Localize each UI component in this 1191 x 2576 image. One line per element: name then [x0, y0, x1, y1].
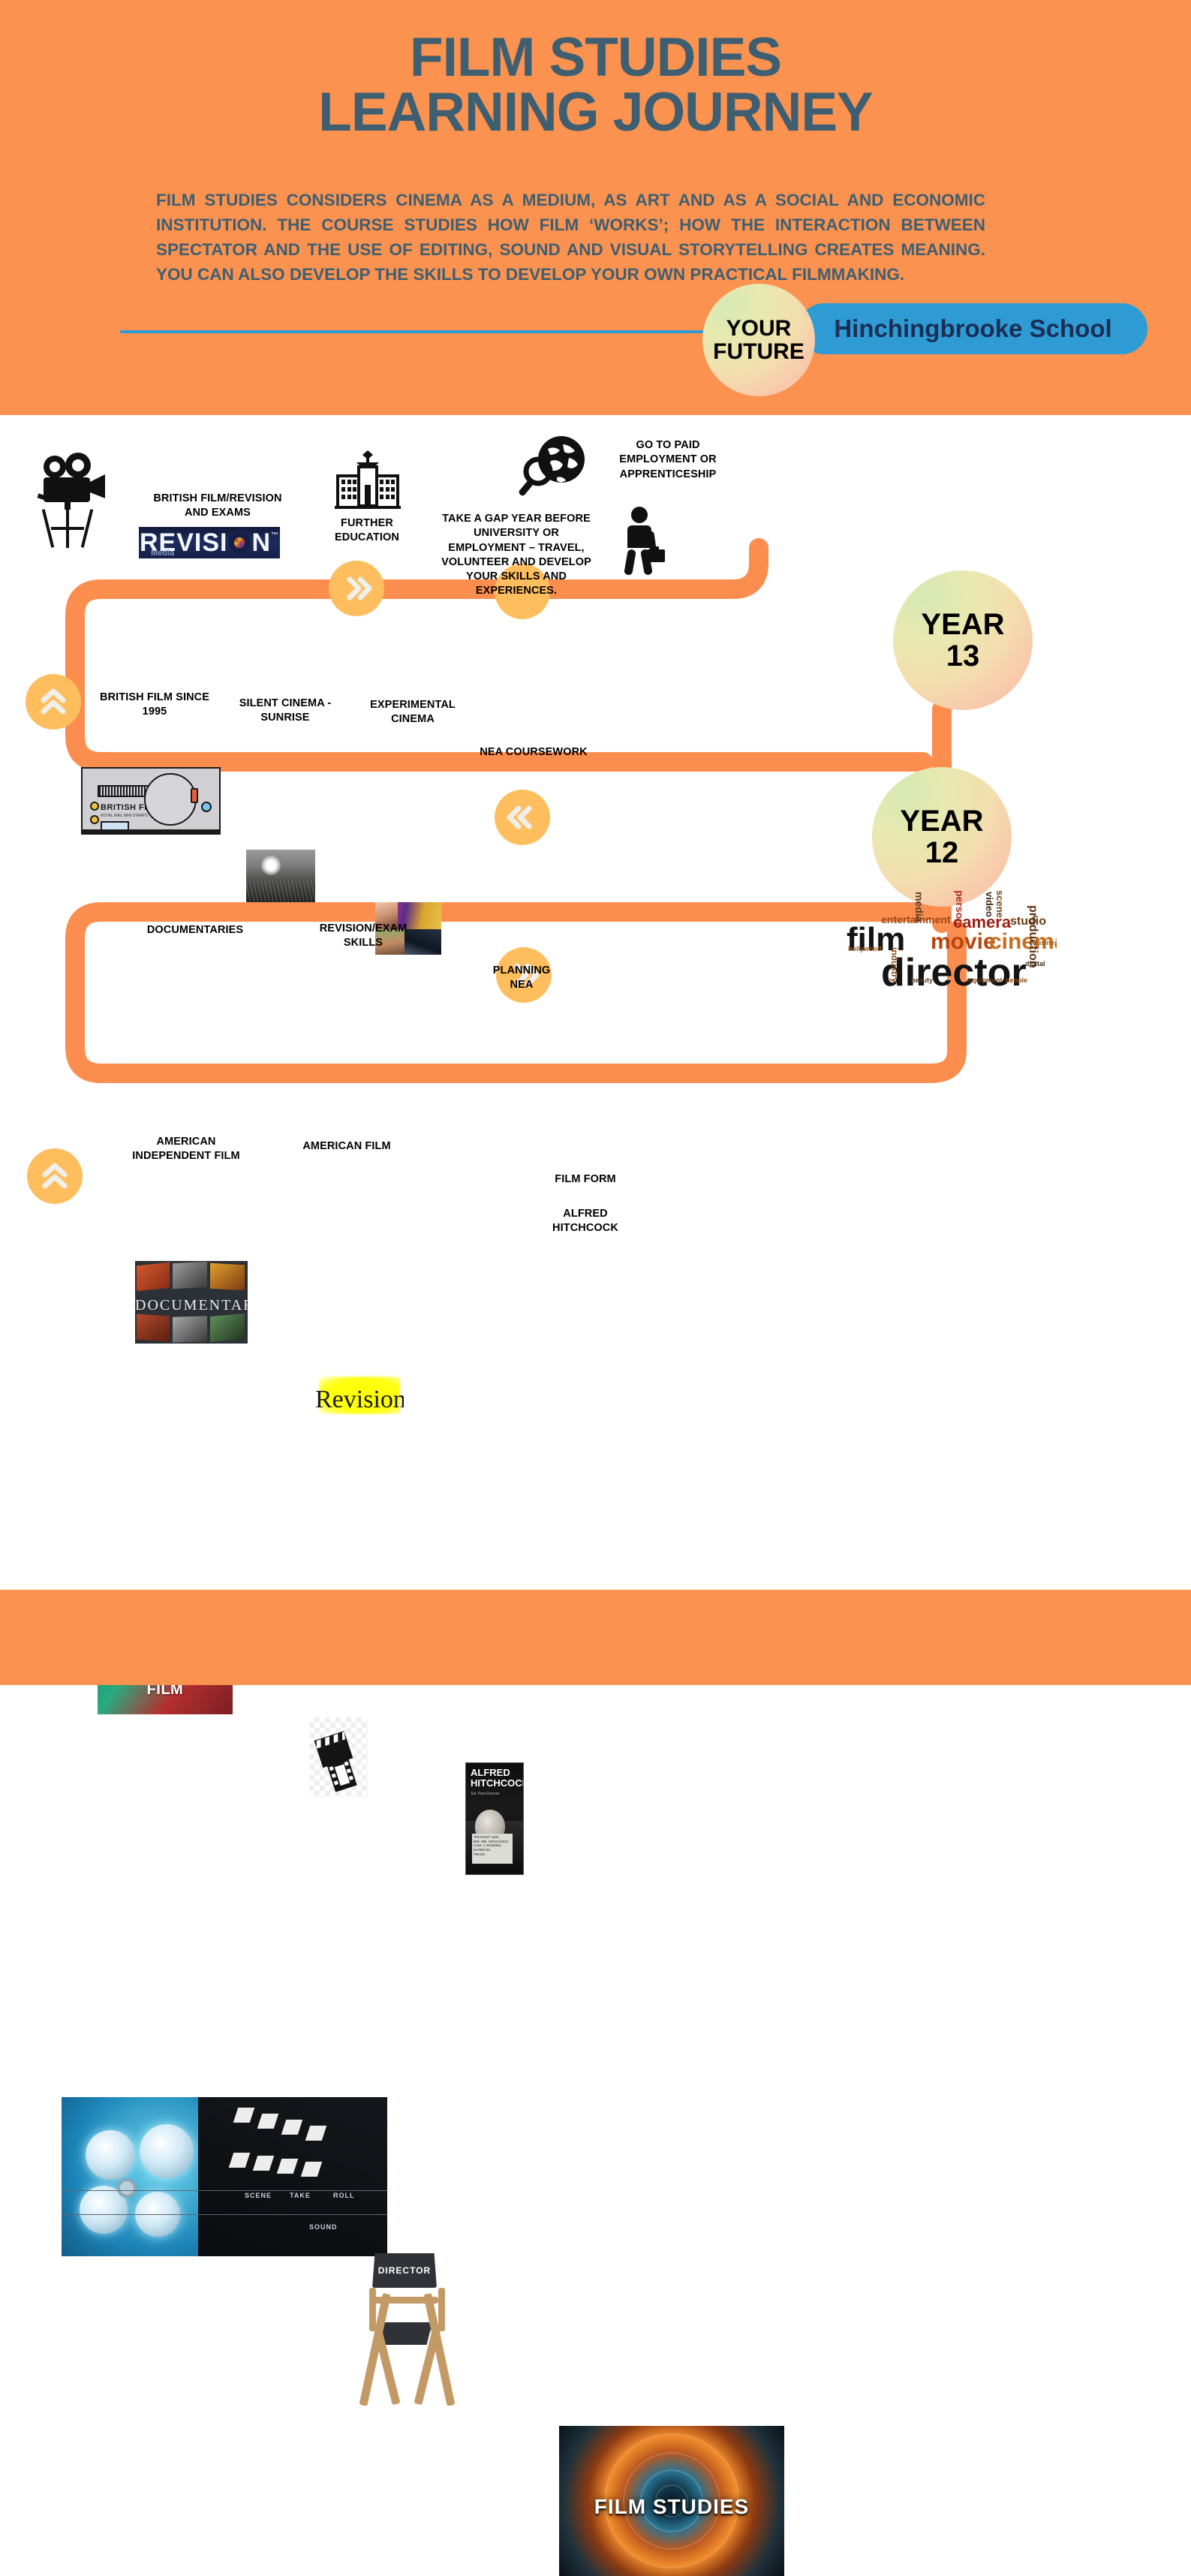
label-line-2: INDEPENDENT FILM [120, 1149, 252, 1163]
label-line-2: 1995 [90, 705, 219, 719]
school-badge: Hinchingbrooke School [799, 303, 1147, 354]
chevron-double-right-icon [340, 572, 373, 605]
chevron-double-up-icon [37, 685, 70, 718]
clapper-word-take: TAKE [290, 2192, 311, 2199]
wordcloud-word-digital: digital [1025, 961, 1045, 968]
label-line-2: UNIVERSITY OR [434, 526, 599, 540]
label-line-1: EXPERIMENTAL [360, 698, 465, 712]
label-line-1: BRITISH FILM/REVISION [135, 492, 300, 506]
film-camera-tripod-icon [32, 449, 122, 554]
doc-tile-5 [173, 1316, 207, 1343]
wordcloud-word-industry: industry [890, 947, 899, 983]
documentary-collage-image: DOCUMENTARY [135, 1261, 248, 1344]
intro-paragraph: FILM STUDIES CONSIDERS CINEMA AS A MEDIU… [156, 188, 985, 287]
film-director-word-cloud-image: film director movie cinema camera studio… [842, 889, 1057, 992]
label-line-5: YOUR SKILLS AND [434, 570, 599, 584]
doc-tile-3 [210, 1263, 245, 1290]
british-films-machine-image: BRITISH FILMS ROYAL MAIL MINI STAMPS [81, 767, 221, 835]
bubble-year-13: YEAR 13 [893, 570, 1033, 710]
label-gap-year: TAKE A GAP YEAR BEFORE UNIVERSITY OR EMP… [434, 512, 599, 599]
page-title-line-2: LEARNING JOURNEY [0, 85, 1191, 140]
bubble-your-future-line-1: YOUR [726, 317, 792, 341]
british-films-subcaption: ROYAL MAIL MINI STAMPS [101, 814, 148, 818]
wordcloud-word-director: director [881, 953, 1027, 992]
clapper-word-scene: SCENE [245, 2192, 272, 2199]
label-line-3: APPRENTICESHIP [600, 468, 735, 482]
hitchcock-title-line-1: ALFRED [471, 1768, 519, 1778]
label-line-1: AMERICAN [120, 1135, 252, 1149]
doc-tile-4 [137, 1314, 170, 1341]
label-british-film-since-1995: BRITISH FILM SINCE 1995 [90, 691, 219, 720]
label-line-1: PLANNING [462, 964, 582, 978]
clapperboard-svg [309, 1717, 368, 1797]
label-experimental-cinema: EXPERIMENTAL CINEMA [360, 698, 465, 727]
wordcloud-word-media: media [914, 892, 925, 922]
label-film-form: FILM FORM [525, 1172, 645, 1187]
wordcloud-word-video: video [985, 892, 994, 917]
revision-logo-text-b: N [251, 528, 271, 558]
chevron-double-up-icon [38, 1160, 71, 1193]
label-line-2: CINEMA [360, 712, 465, 727]
revision-logo-image: REVISIN™ Media [139, 527, 280, 558]
bubble-year-12-line-2: 12 [925, 837, 959, 868]
footer-band [0, 1590, 1191, 1685]
bubble-year-13-line-1: YEAR [921, 609, 1004, 640]
revision-word: Revision [315, 1386, 404, 1414]
label-line-6: EXPERIENCES. [434, 584, 599, 598]
label-line-4: VOLUNTEER AND DEVELOP [434, 555, 599, 570]
chair-director-word: DIRECTOR [372, 2265, 437, 2276]
label-american-independent-film: AMERICAN INDEPENDENT FILM [120, 1135, 252, 1164]
label-silent-cinema-sunrise: SILENT CINEMA - SUNRISE [233, 697, 338, 726]
british-films-reel [144, 773, 197, 826]
film-studies-banner-text: FILM STUDIES [559, 2495, 784, 2519]
hitchcock-title-line-2: HITCHCOCK [471, 1778, 519, 1789]
hitchcock-poster-byline: Ed. Paul Duncan [471, 1792, 500, 1796]
label-line-2: SUNRISE [233, 711, 338, 725]
revision-logo-subtext: Media [151, 549, 174, 558]
bubble-your-future-line-2: FUTURE [713, 340, 805, 364]
british-films-dot-d [191, 788, 198, 803]
film-studies-lens-banner: FILM STUDIES [559, 2426, 784, 2576]
label-planning-nea: PLANNING NEA [462, 964, 582, 993]
wordcloud-word-production: production [1027, 905, 1039, 968]
label-line-2: AND EXAMS [135, 506, 300, 520]
clapperboard-filmstrip-icon [309, 1717, 368, 1797]
page-title: FILM STUDIES LEARNING JOURNEY [0, 30, 1191, 140]
label-line-2: EMPLOYMENT OR [600, 453, 735, 467]
bubble-year-13-line-2: 13 [946, 640, 980, 672]
chair-arm-right [438, 2288, 445, 2331]
doc-tile-2 [173, 1262, 207, 1289]
wordcloud-word-beauty: beauty [911, 977, 933, 984]
label-line-2: HITCHCOCK [525, 1221, 645, 1235]
label-documentaries: DOCUMENTARIES [135, 923, 255, 937]
wordcloud-word-movie: movie [931, 931, 996, 953]
bubble-year-12: YEAR 12 [872, 767, 1012, 907]
alfred-hitchcock-poster-image: ALFRED HITCHCOCK Ed. Paul Duncan THE COM… [465, 1762, 524, 1875]
label-revision-exam-skills: REVISION/EXAM SKILLS [303, 922, 423, 951]
sun-glow [261, 856, 281, 875]
label-line-2: SKILLS [303, 936, 423, 950]
bubble-your-future: YOUR FUTURE [702, 284, 815, 396]
chevron-up-marker-left-lower [27, 1148, 83, 1204]
label-line-1: REVISION/EXAM [303, 922, 423, 936]
label-alfred-hitchcock: ALFRED HITCHCOCK [525, 1207, 645, 1236]
hitchcock-placard: "PSYCHO" 1401DIR. MR. HITCHCOCKCAM. J. R… [472, 1834, 513, 1864]
wordcloud-word-hollywood: hollywood [848, 946, 882, 952]
label-further-education: FURTHER EDUCATION [306, 516, 428, 546]
label-nea-coursework: NEA COURSEWORK [465, 745, 602, 760]
chevron-up-marker-left-upper [26, 674, 81, 730]
clapper-word-roll: ROLL [333, 2192, 355, 2199]
label-line-1: GO TO PAID [600, 438, 735, 453]
clapper-word-sound: SOUND [309, 2223, 338, 2231]
label-british-film-revision-exams: BRITISH FILM/REVISION AND EXAMS [135, 492, 300, 521]
trademark-glyph: ™ [271, 531, 279, 540]
globe-magnifier-icon [518, 434, 590, 500]
university-building-icon [333, 450, 402, 510]
british-films-dot-a [90, 802, 99, 811]
reel-hole-1 [86, 2130, 135, 2180]
person-briefcase-walking-icon [614, 506, 668, 578]
documentary-caption: DOCUMENTARY [135, 1297, 248, 1314]
grass-field [246, 880, 315, 902]
british-films-dot-c [201, 802, 212, 812]
doc-tile-6 [210, 1314, 245, 1342]
label-line-3: EMPLOYMENT – TRAVEL, [434, 541, 599, 555]
wordcloud-word-person: person [955, 890, 965, 925]
film-reel-clapperboard-photo: SCENE TAKE ROLL SOUND [62, 2097, 387, 2256]
label-line-1: BRITISH FILM SINCE [90, 691, 219, 705]
label-line-1: ALFRED [525, 1207, 645, 1221]
revision-highlighter-image: Revision [315, 1368, 404, 1422]
label-line-2: NEA [462, 978, 582, 992]
wordcloud-word-scene: scene [995, 890, 1005, 918]
doc-tile-1 [137, 1262, 170, 1292]
label-american-film: AMERICAN FILM [287, 1139, 407, 1154]
british-films-dot-b [90, 815, 99, 824]
school-badge-label: Hinchingbrooke School [834, 314, 1111, 343]
director-chair-illustration: DIRECTOR [347, 2249, 467, 2415]
chevron-left-marker-mid [495, 790, 550, 845]
label-line-1: SILENT CINEMA - [233, 697, 338, 711]
clapper-line-1 [62, 2190, 387, 2191]
chevron-double-left-icon [506, 801, 539, 834]
label-line-1: FURTHER [306, 516, 428, 531]
bubble-year-12-line-1: YEAR [900, 805, 983, 837]
label-line-1: TAKE A GAP YEAR BEFORE [434, 512, 599, 526]
reel-hole-2 [140, 2124, 194, 2178]
british-films-base [83, 829, 219, 833]
revision-logo-ring-icon [228, 531, 251, 554]
label-paid-employment: GO TO PAID EMPLOYMENT OR APPRENTICESHIP [600, 438, 735, 482]
hitchcock-poster-title: ALFRED HITCHCOCK [471, 1768, 519, 1788]
wordcloud-word-equipment: equipment [968, 977, 1003, 984]
page-title-line-1: FILM STUDIES [0, 30, 1191, 85]
sunrise-film-still-image [246, 850, 315, 902]
wordcloud-word-business: business [1033, 940, 1057, 946]
clapper-line-2 [62, 2214, 387, 2215]
chevron-right-marker-top [329, 561, 384, 616]
wordcloud-word-people: people [1006, 977, 1027, 984]
reel-hub [117, 2178, 137, 2198]
label-line-2: EDUCATION [306, 531, 428, 545]
